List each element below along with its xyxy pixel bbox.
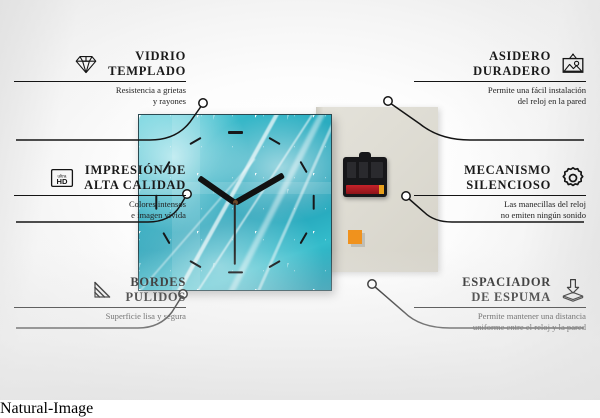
hour-marker [228, 271, 243, 273]
feature-divider [14, 307, 186, 308]
feature-title: VIDRIO TEMPLADO [108, 49, 186, 78]
feature-title: ASIDERO DURADERO [473, 49, 551, 78]
feature-header: ESPACIADOR DE ESPUMA [414, 275, 586, 304]
feature-impresion-alta-calidad: ultra HD IMPRESIÓN DE ALTA CALIDAD Color… [14, 163, 186, 221]
hour-marker [312, 195, 314, 210]
feature-description: Resistencia a grietas y rayones [14, 85, 186, 106]
battery [346, 185, 384, 194]
feature-description: Permite mantener una distancia uniforme … [414, 311, 586, 332]
feature-description: Las manecillas del reloj no emiten ningú… [414, 199, 586, 220]
infographic-canvas: VIDRIO TEMPLADO Resistencia a grietas y … [0, 0, 600, 400]
ultra-hd-icon: ultra HD [49, 165, 75, 191]
polished-edge-icon [91, 277, 117, 303]
feature-description: Superficie lisa y segura [14, 311, 186, 322]
feature-espaciador-de-espuma: ESPACIADOR DE ESPUMA Permite mantener un… [414, 275, 586, 333]
feature-divider [414, 81, 586, 82]
foam-spacer-icon [560, 277, 586, 303]
feature-vidrio-templado: VIDRIO TEMPLADO Resistencia a grietas y … [14, 49, 186, 107]
feature-title: IMPRESIÓN DE ALTA CALIDAD [84, 163, 186, 192]
picture-frame-hanger-icon [560, 51, 586, 77]
feature-header: ultra HD IMPRESIÓN DE ALTA CALIDAD [14, 163, 186, 192]
feature-header: MECANISMO SILENCIOSO [414, 163, 586, 192]
feature-asidero-duradero: ASIDERO DURADERO Permite una fácil insta… [414, 49, 586, 107]
foam-spacer-pad [348, 230, 362, 244]
feature-header: BORDES PULIDOS [14, 275, 186, 304]
feature-title: ESPACIADOR DE ESPUMA [462, 275, 551, 304]
feature-bordes-pulidos: BORDES PULIDOS Superficie lisa y segura [14, 275, 186, 322]
feature-description: Permite una fácil instalación del reloj … [414, 85, 586, 106]
mechanism-hanger-nub [359, 152, 371, 159]
second-hand [234, 202, 236, 264]
diamond-icon [73, 51, 99, 77]
feature-header: ASIDERO DURADERO [414, 49, 586, 78]
feature-title: BORDES PULIDOS [126, 275, 186, 304]
quartz-mechanism [343, 157, 387, 197]
feature-divider [414, 307, 586, 308]
feature-divider [14, 81, 186, 82]
gear-icon [560, 165, 586, 191]
feature-description: Colores intensos e imagen vívida [14, 199, 186, 220]
feature-title: MECANISMO SILENCIOSO [464, 163, 551, 192]
feature-mecanismo-silencioso: MECANISMO SILENCIOSO Las manecillas del … [414, 163, 586, 221]
feature-divider [14, 195, 186, 196]
feature-header: VIDRIO TEMPLADO [14, 49, 186, 78]
mechanism-housing-detail [347, 162, 383, 178]
svg-text:HD: HD [57, 177, 68, 186]
battery-terminal [379, 185, 384, 194]
feature-divider [414, 195, 586, 196]
